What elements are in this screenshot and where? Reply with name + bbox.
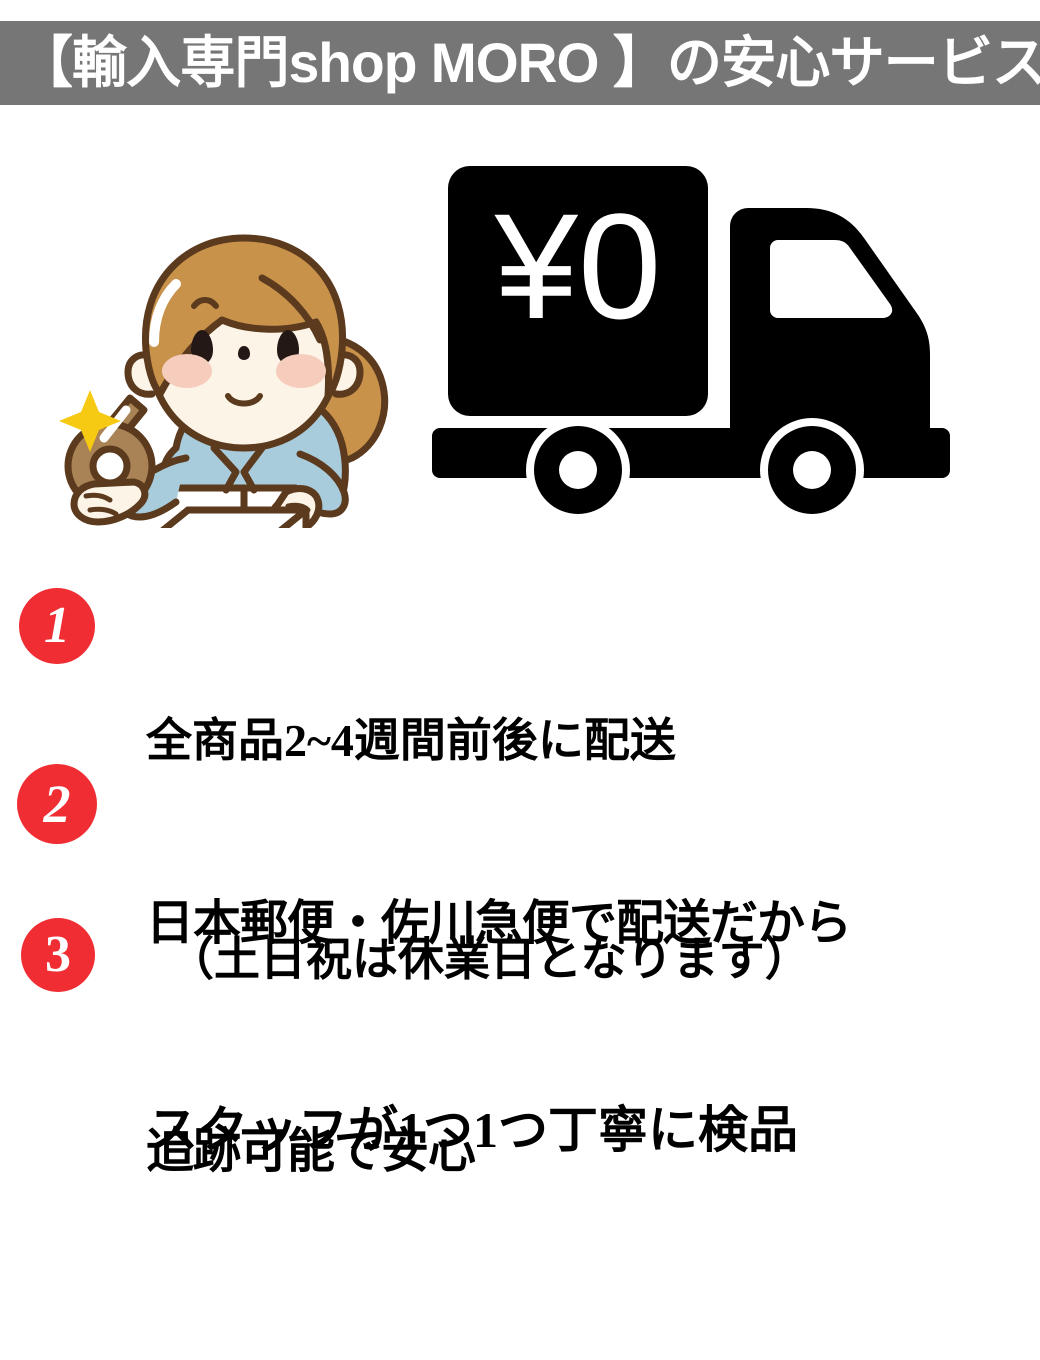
feature-badge-3: 3 — [21, 918, 95, 992]
cardboard-box — [146, 510, 306, 528]
feature-badge-2: 2 — [17, 764, 97, 844]
feature-item-2: 2 日本郵便・佐川急便で配送だから 追跡可能で安心 — [0, 732, 1040, 897]
free-shipping-truck-icon: ¥0 — [432, 166, 950, 522]
feature-item-1: 1 全商品2~4週間前後に配送 （土日祝は休業日となります） — [0, 552, 1040, 732]
magnifier-lens — [93, 449, 127, 483]
promo-banner-page: 【輸入専門shop MORO 】の安心サービス — [0, 0, 1040, 1040]
feature-badge-1: 1 — [19, 588, 95, 664]
cheek-right — [276, 354, 326, 388]
banner-title: 【輸入専門shop MORO 】の安心サービス — [0, 21, 1040, 105]
feature-line: スタッフが1つ1つ丁寧に検品 — [148, 1084, 798, 1176]
staff-illustration — [59, 238, 385, 528]
feature-item-3: 3 スタッフが1つ1つ丁寧に検品 — [0, 900, 1040, 1020]
feature-text-3: スタッフが1つ1つ丁寧に検品 — [148, 900, 798, 1360]
illustration-area: ¥0 — [0, 118, 1040, 528]
header-banner: 【輸入専門shop MORO 】の安心サービス — [0, 21, 1040, 105]
nose — [238, 346, 250, 360]
truck-price-label: ¥0 — [494, 182, 662, 350]
cheek-left — [162, 354, 212, 388]
